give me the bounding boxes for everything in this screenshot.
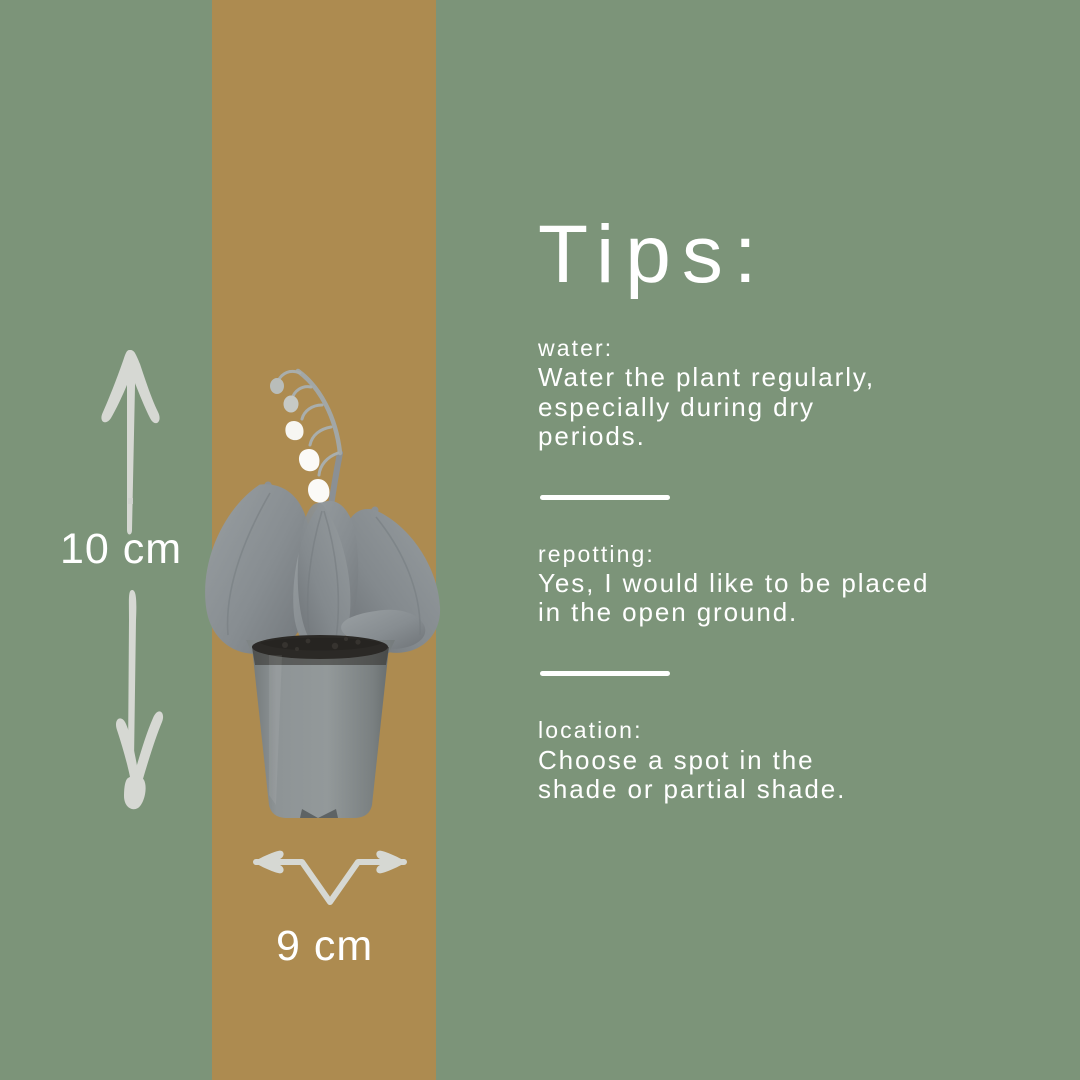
plant-illustration	[190, 335, 450, 820]
tip-label-location: location:	[538, 716, 1038, 745]
tip-section-location: location: Choose a spot in the shade or …	[538, 716, 1038, 804]
width-label: 9 cm	[276, 922, 373, 971]
section-divider-1	[540, 495, 670, 500]
tip-label-water: water:	[538, 334, 1038, 363]
tip-body-repotting: Yes, I would like to be placed in the op…	[538, 569, 1038, 627]
width-measure-arrow	[240, 840, 420, 910]
tips-panel: Tips: water: Water the plant regularly, …	[538, 214, 1038, 804]
tip-section-repotting: repotting: Yes, I would like to be place…	[538, 540, 1038, 628]
tip-body-water: Water the plant regularly, especially du…	[538, 363, 1038, 450]
flower-raceme	[270, 371, 340, 503]
tip-section-water: water: Water the plant regularly, especi…	[538, 334, 1038, 451]
tip-label-repotting: repotting:	[538, 540, 1038, 569]
page-title: Tips:	[538, 214, 1038, 296]
tip-body-location: Choose a spot in the shade or partial sh…	[538, 746, 1038, 804]
height-label: 10 cm	[60, 525, 182, 574]
nursery-pot	[246, 635, 395, 818]
section-divider-2	[540, 671, 670, 676]
plant-leaves	[194, 480, 440, 659]
poster-canvas: 10 cm 9 cm Tips: water: Water the plant …	[0, 0, 1080, 1080]
height-measure-arrow	[78, 340, 218, 820]
